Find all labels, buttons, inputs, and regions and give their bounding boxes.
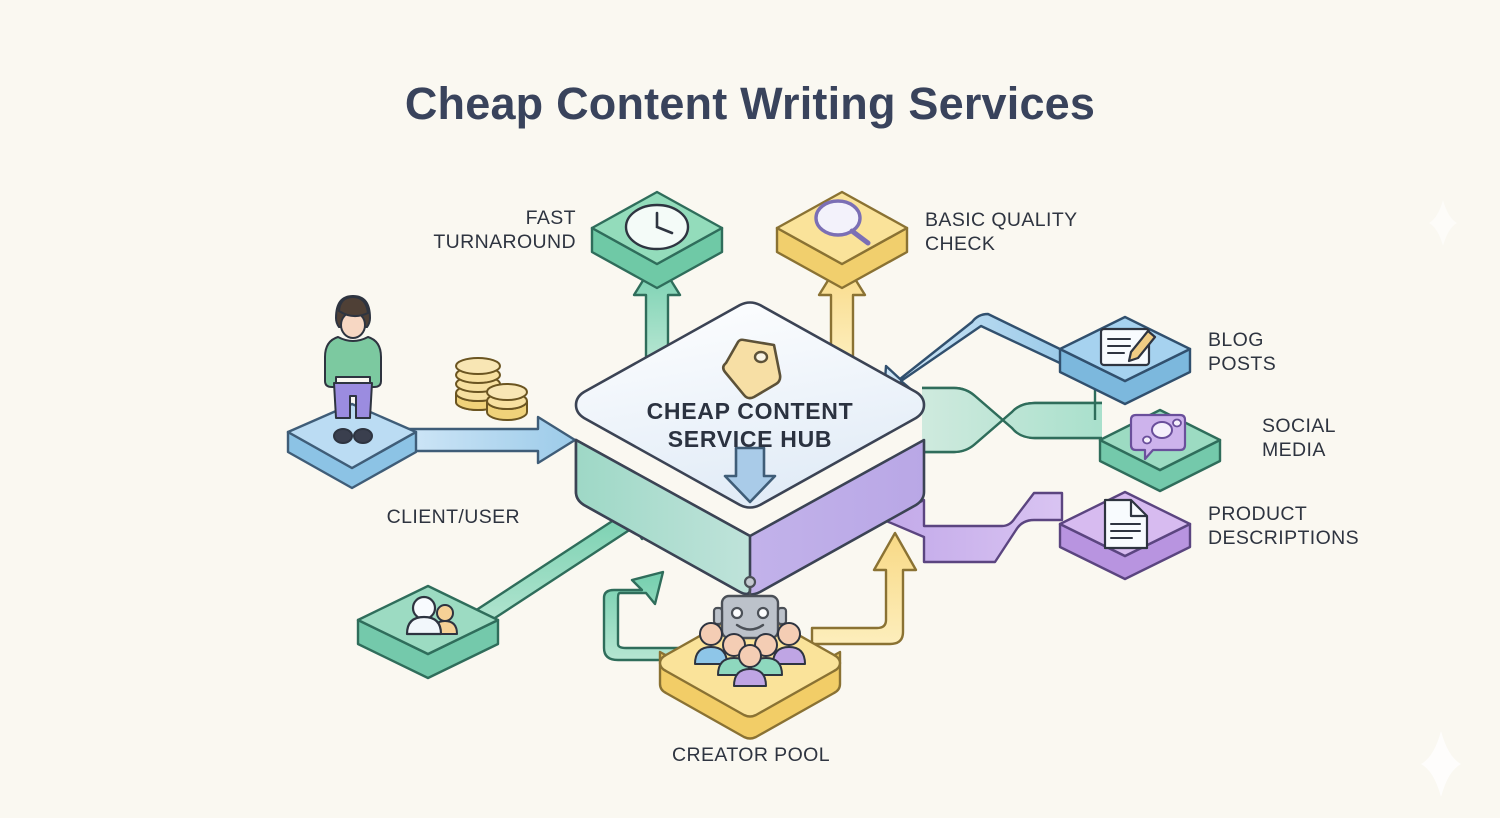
sparkle-top-right [1429,200,1457,246]
label-creator-pool: CREATOR POOL [672,743,912,767]
node-client-user[interactable] [288,296,416,488]
label-blog-posts: BLOG POSTS [1208,328,1378,376]
node-social-media[interactable] [1100,410,1220,491]
node-audience-group[interactable] [358,586,498,678]
node-product-descriptions[interactable] [1060,492,1190,579]
coin-stack-icon [456,358,527,420]
hub-label-line1: CHEAP CONTENT [550,396,950,426]
node-fast-turnaround[interactable] [592,192,722,288]
label-client-user: CLIENT/USER [360,505,520,529]
node-creator-pool[interactable] [660,577,840,739]
sparkle-bottom-right [1421,731,1461,797]
connector-creator-pool-left-to-hub [604,572,686,660]
connector-blog-posts-to-hub [884,314,1062,395]
hub-label-line2: SERVICE HUB [550,424,950,454]
label-product-descriptions: PRODUCT DESCRIPTIONS [1208,502,1468,550]
label-fast-turnaround: FAST TURNAROUND [380,206,576,254]
label-social-media: SOCIAL MEDIA [1262,414,1442,462]
label-basic-quality-check: BASIC QUALITY CHECK [925,208,1155,256]
diagram-canvas: Cheap Content Writing Services [0,0,1500,818]
clock-icon [626,205,688,249]
node-basic-quality-check[interactable] [777,192,907,288]
robot-icon [714,577,786,638]
document-pencil-icon [1101,329,1155,365]
node-blog-posts[interactable] [1060,317,1190,404]
